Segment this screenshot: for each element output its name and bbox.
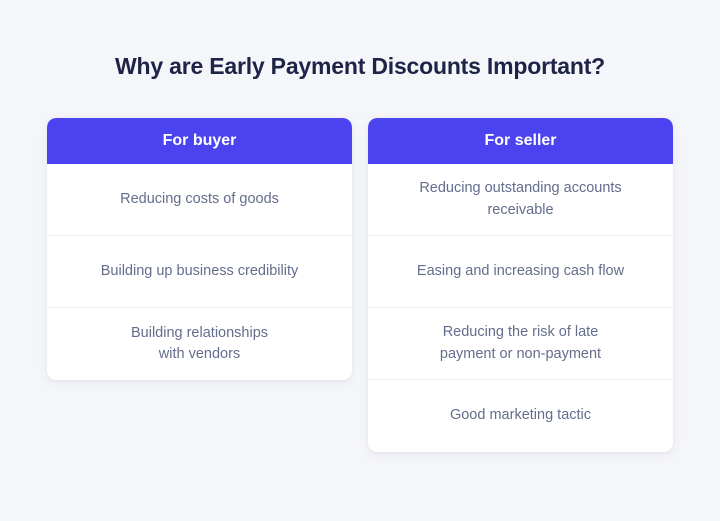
column-body-for-buyer: Reducing costs of goods Building up busi…	[47, 164, 352, 380]
list-item-label: Good marketing tactic	[450, 405, 591, 426]
list-item-label: Building relationships with vendors	[131, 323, 268, 365]
column-header-for-buyer: For buyer	[47, 118, 352, 164]
list-item: Good marketing tactic	[368, 380, 673, 452]
column-header-for-seller: For seller	[368, 118, 673, 164]
list-item: Easing and increasing cash flow	[368, 236, 673, 308]
list-item: Reducing the risk of late payment or non…	[368, 308, 673, 380]
column-for-buyer: For buyer Reducing costs of goods Buildi…	[47, 118, 352, 380]
page-title: Why are Early Payment Discounts Importan…	[0, 52, 720, 81]
list-item: Building up business credibility	[47, 236, 352, 308]
list-item-label: Building up business credibility	[101, 261, 298, 282]
list-item-label: Reducing the risk of late payment or non…	[440, 322, 601, 364]
list-item-label: Reducing outstanding accounts receivable	[419, 178, 621, 220]
list-item: Building relationships with vendors	[47, 308, 352, 380]
comparison-columns: For buyer Reducing costs of goods Buildi…	[47, 118, 673, 452]
list-item-label: Easing and increasing cash flow	[417, 261, 624, 282]
list-item: Reducing costs of goods	[47, 164, 352, 236]
column-body-for-seller: Reducing outstanding accounts receivable…	[368, 164, 673, 452]
list-item-label: Reducing costs of goods	[120, 189, 279, 210]
list-item: Reducing outstanding accounts receivable	[368, 164, 673, 236]
column-for-seller: For seller Reducing outstanding accounts…	[368, 118, 673, 452]
infographic-root: Why are Early Payment Discounts Importan…	[0, 0, 720, 521]
